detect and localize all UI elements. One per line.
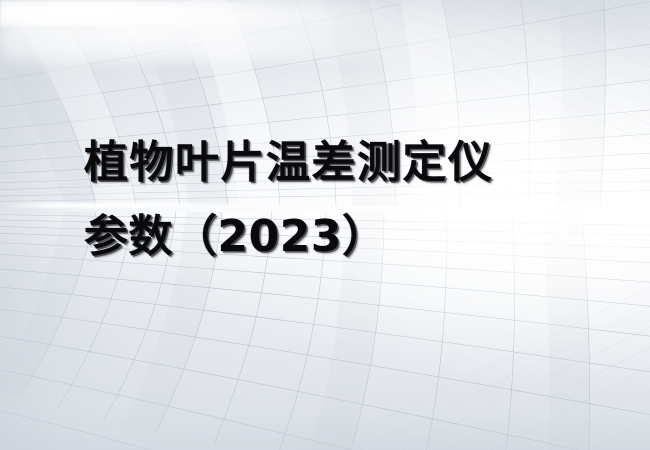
horizon-flare-core	[0, 0, 650, 26]
slide-title: 植物叶片温差测定仪 参数（2023）	[84, 126, 604, 274]
title-line-secondary: 参数（2023）	[84, 200, 604, 274]
title-slide: 植物叶片温差测定仪 参数（2023）	[0, 0, 650, 450]
title-line-primary: 植物叶片温差测定仪	[84, 126, 604, 200]
